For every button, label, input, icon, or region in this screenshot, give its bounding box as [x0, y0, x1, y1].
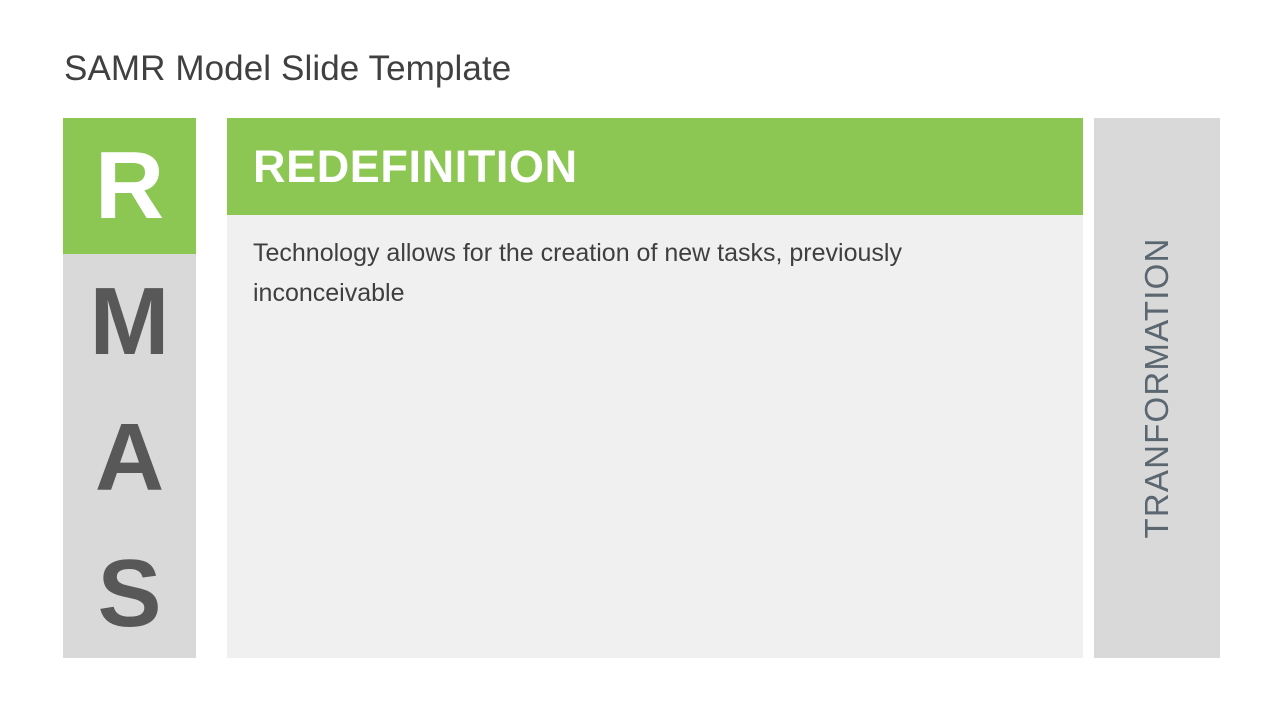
page-title: SAMR Model Slide Template	[64, 46, 964, 92]
content-panel: REDEFINITION Technology allows for the c…	[227, 118, 1083, 658]
samr-letter-a[interactable]: A	[63, 390, 196, 526]
stage-rail: TRANFORMATION	[1094, 118, 1220, 658]
content-body-text: Technology allows for the creation of ne…	[253, 233, 1013, 313]
content-body: Technology allows for the creation of ne…	[253, 233, 1013, 313]
slide-canvas: SAMR Model Slide Template R M A S REDEFI…	[0, 0, 1280, 720]
stage-rail-label: TRANFORMATION	[1138, 238, 1176, 539]
content-header-title: REDEFINITION	[253, 118, 578, 215]
samr-letter-s[interactable]: S	[63, 526, 196, 662]
content-header-bar: REDEFINITION	[227, 118, 1083, 215]
samr-letter-r[interactable]: R	[63, 118, 196, 254]
samr-letter-m[interactable]: M	[63, 254, 196, 390]
samr-letter-rail: R M A S	[63, 118, 196, 658]
